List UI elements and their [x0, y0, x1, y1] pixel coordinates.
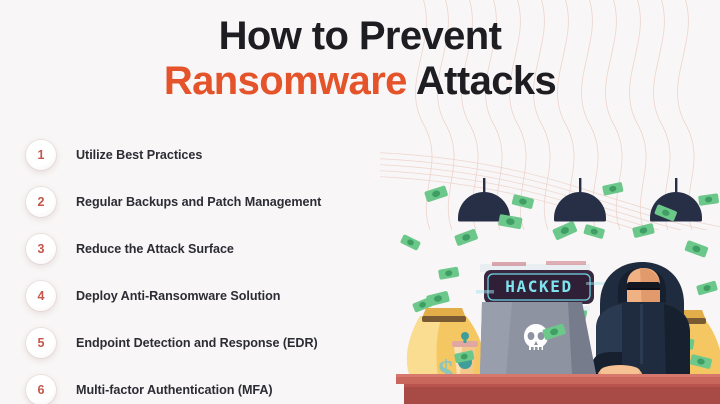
list-item[interactable]: 4 Deploy Anti-Ransomware Solution [18, 272, 398, 319]
laptop-icon [480, 302, 596, 374]
desk [396, 374, 720, 404]
title-rest-word: Attacks [407, 59, 556, 103]
step-number-badge: 1 [26, 140, 56, 170]
step-label: Reduce the Attack Surface [76, 242, 234, 256]
pendant-lamp-icon [554, 178, 606, 222]
step-label: Multi-factor Authentication (MFA) [76, 383, 273, 397]
steps-list: 1 Utilize Best Practices 2 Regular Backu… [18, 131, 398, 404]
hacker-figure [592, 262, 690, 382]
step-label: Endpoint Detection and Response (EDR) [76, 336, 318, 350]
step-label: Regular Backups and Patch Management [76, 195, 321, 209]
title-accent-word: Ransomware [164, 59, 407, 103]
list-item[interactable]: 2 Regular Backups and Patch Management [18, 178, 398, 225]
hacker-illustration: HACKED $ [396, 178, 720, 404]
step-label: Deploy Anti-Ransomware Solution [76, 289, 280, 303]
infographic-canvas: How to Prevent Ransomware Attacks 1 Util… [0, 0, 720, 404]
title-line-1: How to Prevent [0, 14, 720, 59]
page-title: How to Prevent Ransomware Attacks [0, 14, 720, 104]
list-item[interactable]: 3 Reduce the Attack Surface [18, 225, 398, 272]
step-number-badge: 4 [26, 281, 56, 311]
step-number-badge: 2 [26, 187, 56, 217]
list-item[interactable]: 1 Utilize Best Practices [18, 131, 398, 178]
title-line-2: Ransomware Attacks [0, 59, 720, 104]
step-number-badge: 3 [26, 234, 56, 264]
list-item[interactable]: 6 Multi-factor Authentication (MFA) [18, 366, 398, 404]
list-item[interactable]: 5 Endpoint Detection and Response (EDR) [18, 319, 398, 366]
step-label: Utilize Best Practices [76, 148, 202, 162]
step-number-badge: 5 [26, 328, 56, 358]
step-number-badge: 6 [26, 375, 56, 404]
hacked-sign-text: HACKED [505, 277, 572, 296]
